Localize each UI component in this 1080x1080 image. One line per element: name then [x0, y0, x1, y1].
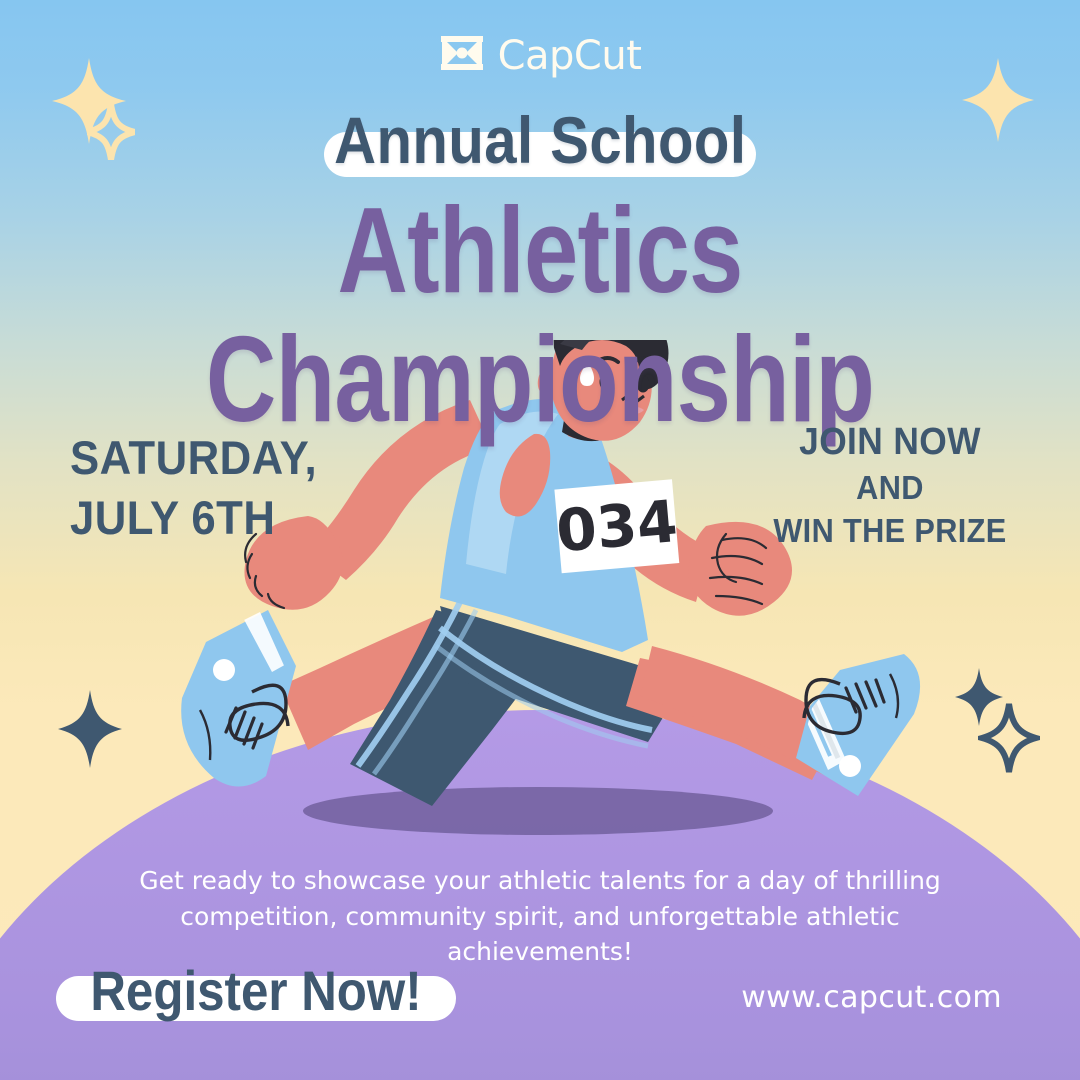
- prize-callout: JOIN NOW AND WIN THE PRIZE: [769, 418, 1011, 553]
- callout-line3: WIN THE PRIZE: [769, 510, 1011, 553]
- capcut-logo-icon: [439, 34, 485, 77]
- callout-line2: AND: [769, 467, 1011, 510]
- capcut-logo-text: CapCut: [498, 36, 642, 76]
- event-date-line1: SATURDAY,: [70, 428, 317, 488]
- sparkle-icon-slate-outline: [978, 700, 1040, 776]
- headline-line2: Athletics Championship: [108, 186, 972, 445]
- headline-line1-row: Annual School: [0, 96, 1080, 184]
- description-text: Get ready to showcase your athletic tale…: [100, 863, 980, 970]
- event-date-line2: JULY 6TH: [70, 488, 317, 548]
- website-url[interactable]: www.capcut.com: [741, 980, 1002, 1015]
- poster-canvas: 034: [0, 0, 1080, 1080]
- callout-line1: JOIN NOW: [769, 418, 1011, 467]
- event-date: SATURDAY, JULY 6TH: [70, 428, 317, 548]
- headline-block: Annual School Athletics Championship: [0, 96, 1080, 445]
- sparkle-icon-slate-left: [58, 690, 122, 768]
- bib-number: 034: [554, 487, 681, 565]
- capcut-logo: CapCut: [0, 34, 1080, 77]
- register-now-button[interactable]: Register Now!: [56, 963, 456, 1021]
- register-now-label: Register Now!: [90, 963, 421, 1019]
- headline-line1: Annual School: [334, 107, 746, 173]
